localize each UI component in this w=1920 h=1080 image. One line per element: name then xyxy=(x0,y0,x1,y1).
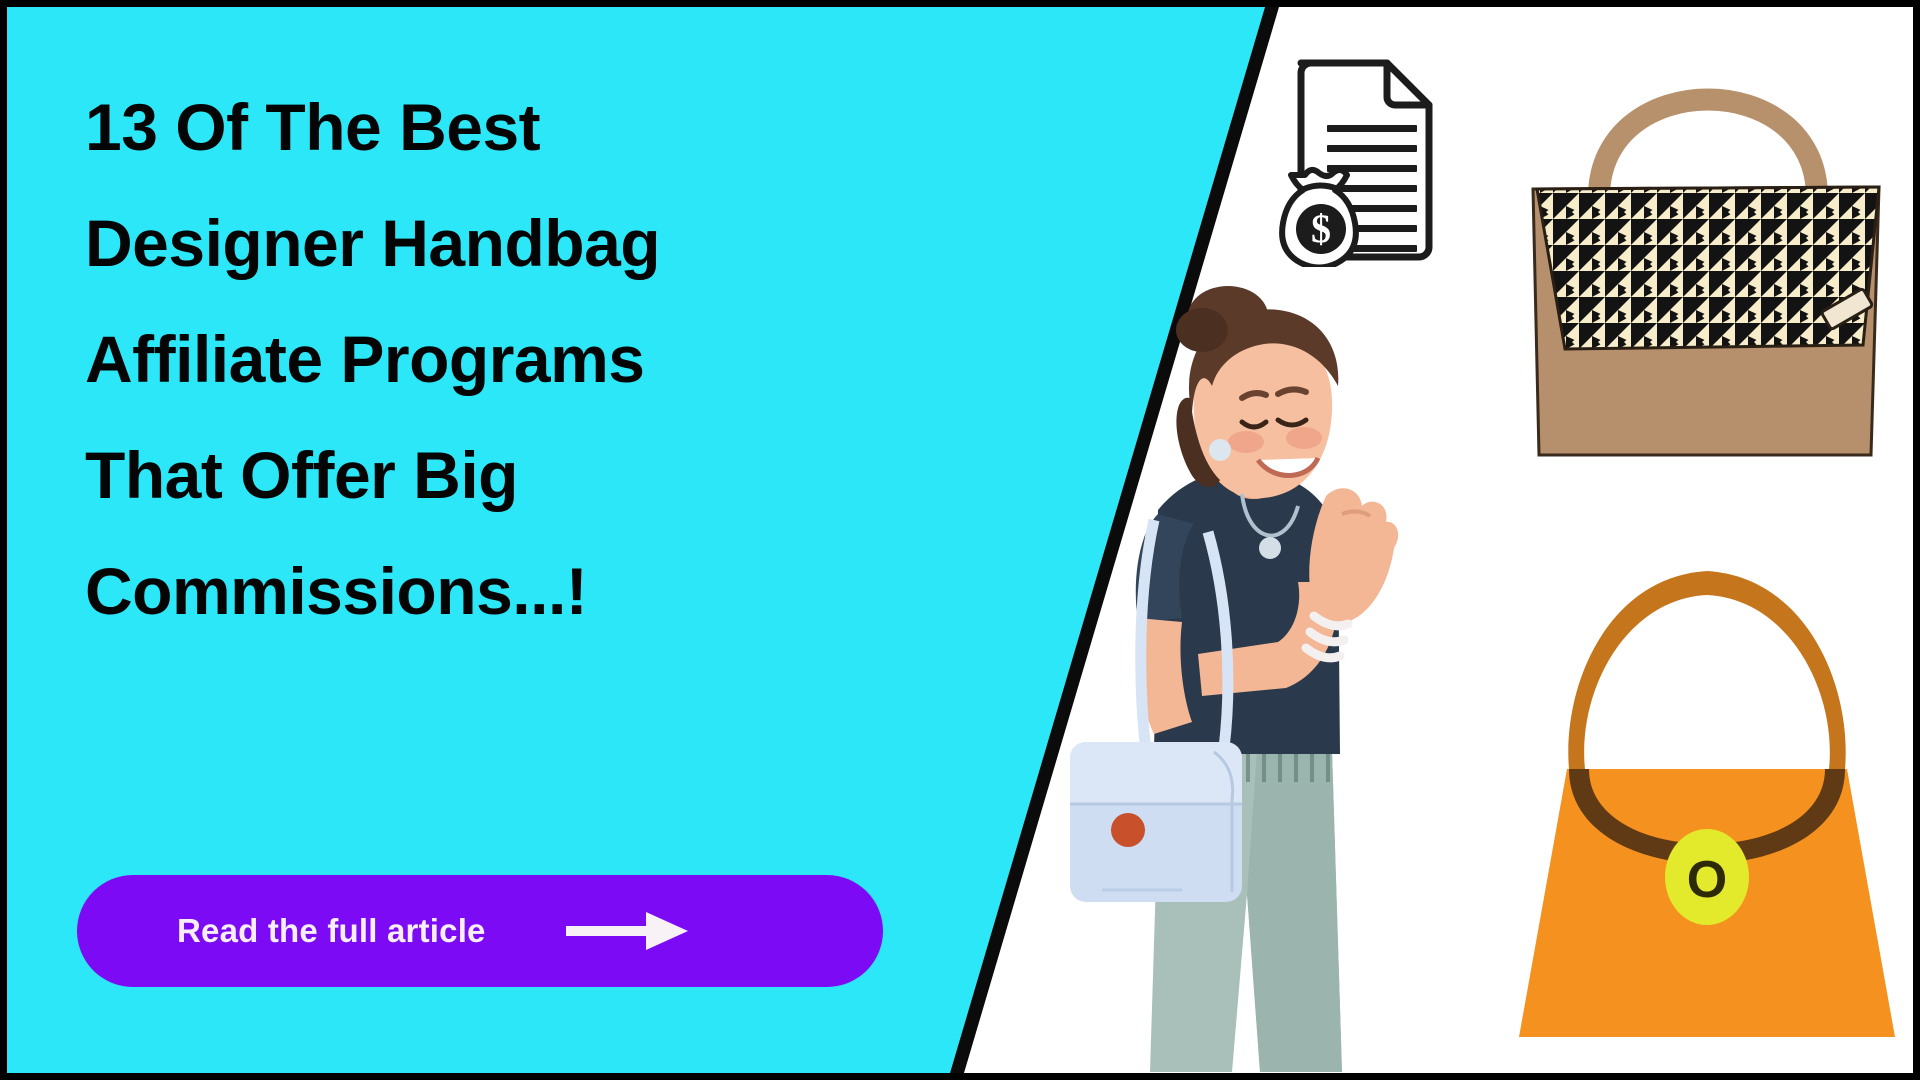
headline-line-3: Affiliate Programs xyxy=(85,301,915,417)
pearl-necklace-pendant xyxy=(1259,537,1281,559)
banner-canvas: $ xyxy=(7,7,1913,1073)
houndstooth-tote-handbag xyxy=(1527,37,1897,457)
arrow-right-icon xyxy=(564,908,690,954)
document-with-money-bag-icon: $ xyxy=(1275,47,1465,267)
dollar-sign-glyph: $ xyxy=(1311,206,1331,251)
womans-light-blue-handbag xyxy=(1070,742,1242,902)
headline: 13 Of The Best Designer Handbag Affiliat… xyxy=(85,69,915,649)
headline-line-5: Commissions...! xyxy=(85,533,915,649)
promo-banner: $ xyxy=(0,0,1920,1080)
pearl-earring xyxy=(1209,439,1231,461)
handbag-clasp xyxy=(1111,813,1145,847)
headline-line-1: 13 Of The Best xyxy=(85,69,915,185)
cta-label: Read the full article xyxy=(177,912,486,950)
orange-shoulder-handbag: O xyxy=(1507,547,1907,1047)
headline-line-4: That Offer Big xyxy=(85,417,915,533)
headline-line-2: Designer Handbag xyxy=(85,185,915,301)
orange-bag-clasp-label: O xyxy=(1687,851,1727,909)
read-full-article-button[interactable]: Read the full article xyxy=(77,875,883,987)
